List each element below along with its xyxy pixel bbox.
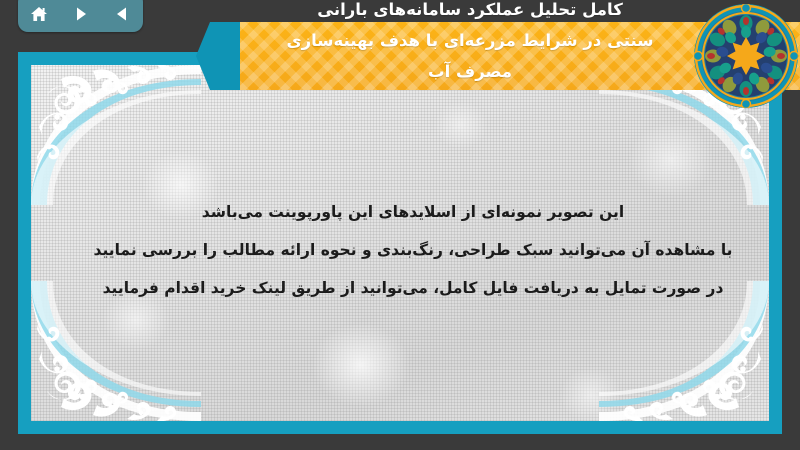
- persian-medallion-icon: [692, 2, 800, 110]
- body-line-3: در صورت تمایل به دریافت فایل کامل، می‌تو…: [61, 269, 765, 307]
- slide-canvas: کامل تحلیل عملکرد سامانه‌های بارانی سنتی…: [0, 0, 800, 450]
- body-line-1: این تصویر نمونه‌ای از اسلایدهای این پاور…: [61, 193, 765, 231]
- back-button[interactable]: [108, 1, 136, 27]
- slide-body: این تصویر نمونه‌ای از اسلایدهای این پاور…: [61, 193, 765, 307]
- home-icon: [30, 6, 48, 22]
- back-icon: [114, 6, 130, 22]
- content-panel: این تصویر نمونه‌ای از اسلایدهای این پاور…: [31, 65, 769, 421]
- home-button[interactable]: [25, 1, 53, 27]
- body-line-2: با مشاهده آن می‌توانید سبک طراحی، رنگ‌بن…: [61, 231, 765, 269]
- navigation-toolbar: [18, 0, 143, 32]
- forward-icon: [73, 6, 89, 22]
- forward-button[interactable]: [67, 1, 95, 27]
